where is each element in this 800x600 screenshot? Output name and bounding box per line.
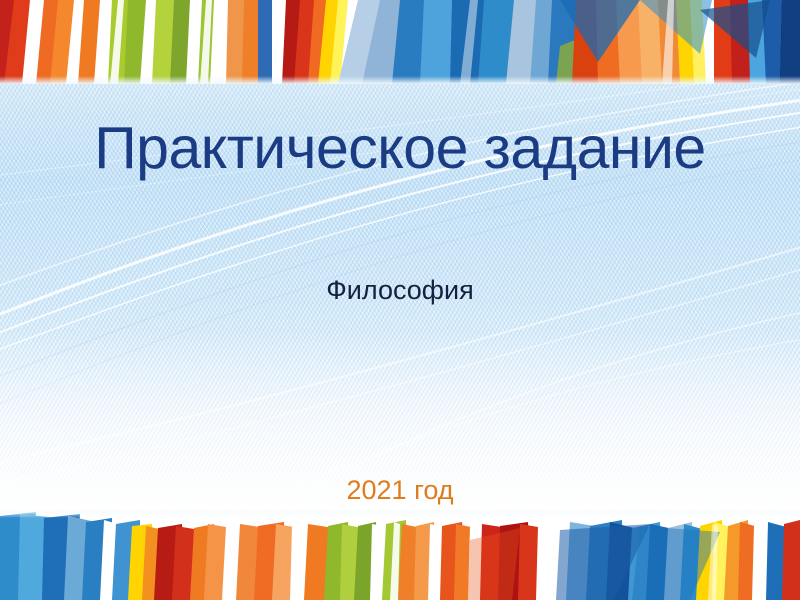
bottom-band-shards [0, 510, 800, 600]
slide-title: Практическое задание [0, 112, 800, 184]
title-slide: Практическое задание Философия 2021 год [0, 0, 800, 600]
bottom-decoration-band [0, 510, 800, 600]
top-band-shards [0, 0, 800, 84]
top-band-soft-edge [0, 76, 800, 84]
top-decoration-band [0, 0, 800, 84]
bottom-band-soft-edge [0, 510, 800, 518]
slide-year: 2021 год [0, 473, 800, 507]
slide-subtitle: Философия [0, 273, 800, 307]
